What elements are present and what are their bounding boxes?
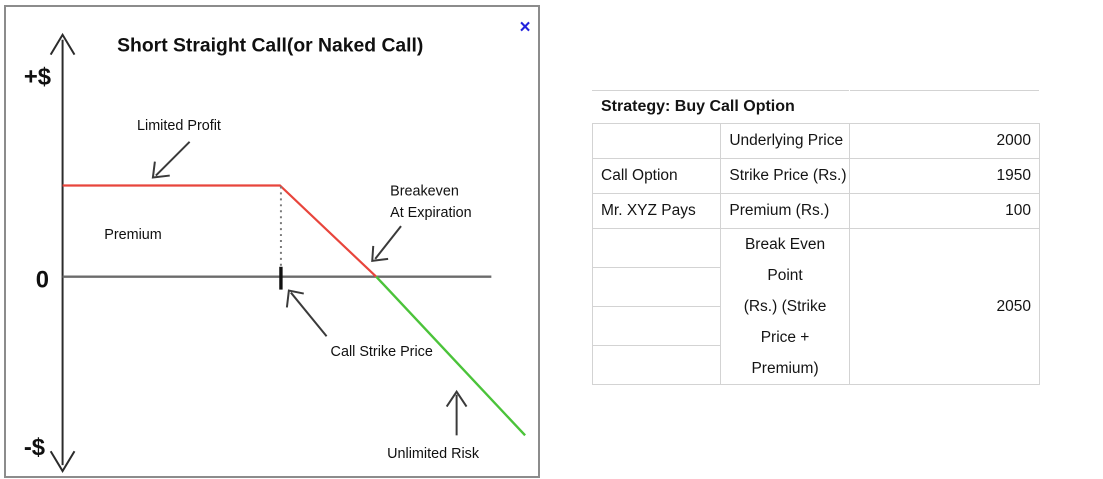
row-value: 1950 — [849, 159, 1039, 194]
table-row: Underlying Price 2000 — [593, 124, 1040, 159]
break-even-label-line2: (Rs.) (Strike Price + Premium) — [729, 291, 840, 384]
breakeven-label-line1: Breakeven — [390, 183, 459, 199]
limited-profit-label: Limited Profit — [137, 118, 221, 134]
spacer-label — [593, 229, 721, 268]
y-axis-top-label: +$ — [24, 63, 51, 90]
table-spacer-row: Break Even Point (Rs.) (Strike Price + P… — [593, 229, 1040, 268]
row-label: Call Option — [593, 159, 721, 194]
breakeven-label-line2: At Expiration — [390, 205, 472, 221]
chart-title: Short Straight Call(or Naked Call) — [117, 35, 423, 57]
spacer-label — [593, 268, 721, 307]
break-even-value: 2050 — [849, 229, 1039, 385]
call-strike-price-arrow — [287, 291, 327, 337]
y-axis-zero-label: 0 — [36, 267, 49, 294]
spacer-label — [593, 307, 721, 346]
call-strike-price-label: Call Strike Price — [331, 344, 433, 360]
row-item: Strike Price (Rs.) — [721, 159, 849, 194]
premium-label: Premium — [104, 227, 162, 243]
table-row: Mr. XYZ Pays Premium (Rs.) 100 — [593, 194, 1040, 229]
strategy-header-spacer — [849, 91, 1039, 124]
close-icon[interactable]: × — [511, 15, 539, 41]
strategy-table: Strategy: Buy Call Option Underlying Pri… — [592, 90, 1040, 385]
row-label: Mr. XYZ Pays — [593, 194, 721, 229]
chart-panel: Short Straight Call(or Naked Call) +$ 0 … — [4, 5, 540, 478]
break-even-label-line1: Break Even Point — [729, 229, 840, 291]
unlimited-risk-label: Unlimited Risk — [387, 446, 480, 462]
row-label — [593, 124, 721, 159]
break-even-label: Break Even Point (Rs.) (Strike Price + P… — [721, 229, 849, 385]
row-value: 2000 — [849, 124, 1039, 159]
row-value: 100 — [849, 194, 1039, 229]
spacer-label — [593, 346, 721, 385]
table-row: Call Option Strike Price (Rs.) 1950 — [593, 159, 1040, 194]
row-item: Underlying Price — [721, 124, 849, 159]
limited-profit-arrow — [153, 142, 190, 178]
strategy-header-cell: Strategy: Buy Call Option — [593, 91, 850, 124]
unlimited-risk-arrow — [447, 392, 467, 436]
breakeven-arrow — [372, 226, 401, 261]
payoff-diagram: Short Straight Call(or Naked Call) +$ 0 … — [6, 7, 538, 476]
strategy-table-panel: Strategy: Buy Call Option Underlying Pri… — [592, 90, 1042, 378]
row-item: Premium (Rs.) — [721, 194, 849, 229]
y-axis-bottom-label: -$ — [24, 434, 45, 461]
y-axis — [51, 35, 75, 471]
table-header-row: Strategy: Buy Call Option — [593, 91, 1040, 124]
